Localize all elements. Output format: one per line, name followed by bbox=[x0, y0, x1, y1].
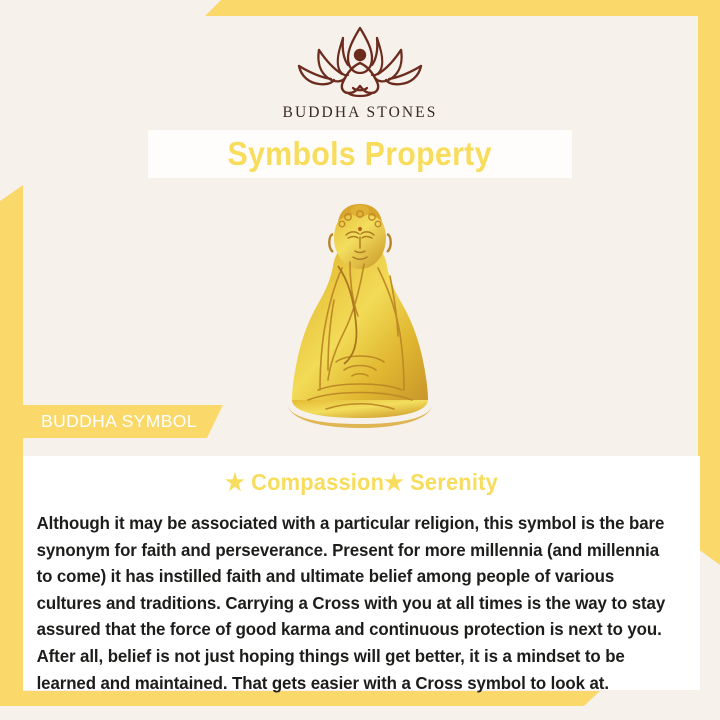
hero-image bbox=[0, 186, 720, 436]
description-paragraph: Although it may be associated with a par… bbox=[23, 496, 680, 696]
lotus-meditation-icon bbox=[285, 22, 435, 100]
title-banner: Symbols Property bbox=[148, 130, 572, 178]
symbol-property-poster: BUDDHA STONES Symbols Property bbox=[0, 0, 720, 720]
golden-buddha-statue-illustration bbox=[278, 204, 442, 436]
trait-list: ★ Compassion★ Serenity bbox=[40, 456, 683, 496]
content-panel: ★ Compassion★ Serenity Although it may b… bbox=[23, 456, 700, 690]
brand-name: BUDDHA STONES bbox=[0, 104, 720, 122]
brand-block: BUDDHA STONES bbox=[0, 22, 720, 122]
frame-left-accent bbox=[0, 185, 23, 693]
page-title: Symbols Property bbox=[228, 135, 492, 173]
frame-top-accent bbox=[205, 0, 720, 16]
category-ribbon: BUDDHA SYMBOL bbox=[23, 405, 223, 438]
category-ribbon-label: BUDDHA SYMBOL bbox=[41, 411, 197, 432]
